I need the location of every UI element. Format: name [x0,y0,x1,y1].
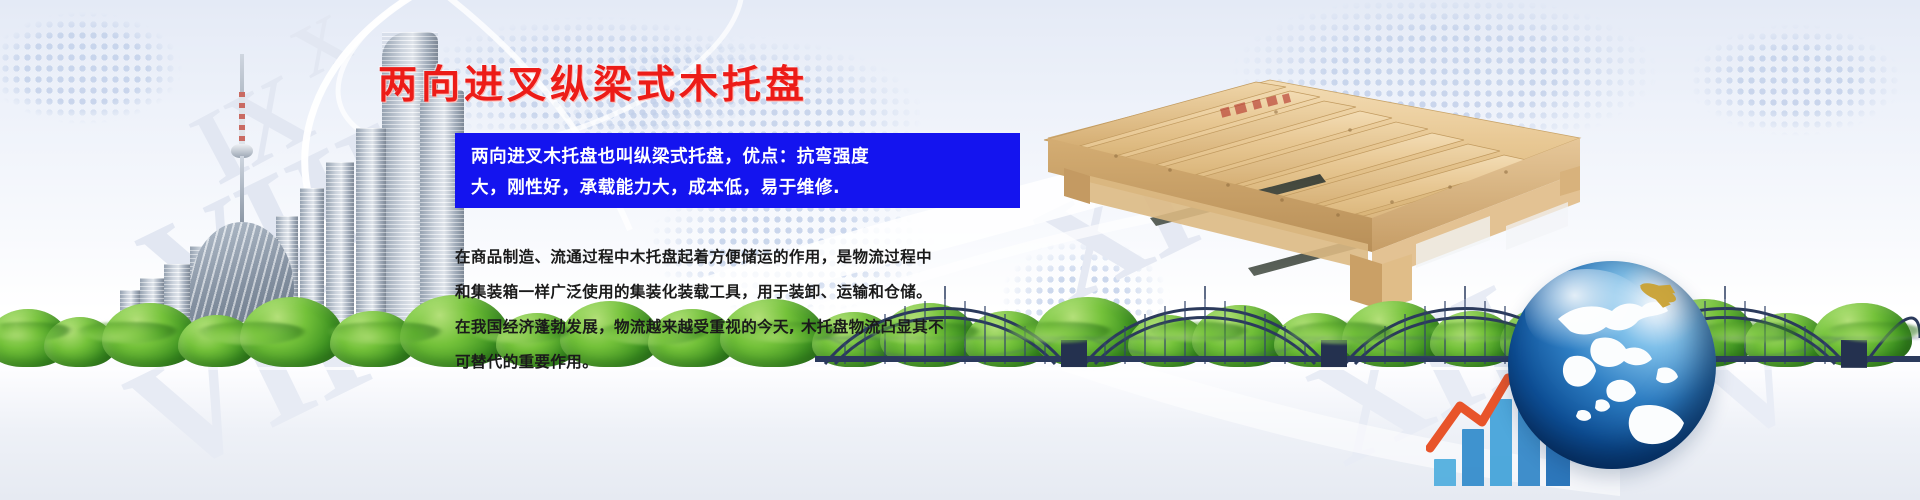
page-title: 两向进叉纵梁式木托盘 [378,54,898,110]
globe-and-chart-graphic [1430,245,1750,500]
body-copy: 在商品制造、流通过程中木托盘起着方便储运的作用，是物流过程中 和集装箱一样广泛使… [455,240,1075,380]
dotted-map-patch [1680,20,1910,140]
highlight-callout: 两向进叉木托盘也叫纵梁式托盘，优点：抗弯强度 大，刚性好，承载能力大，成本低，易… [455,133,1020,208]
body-line: 和集装箱一样广泛使用的集装化装载工具，用于装卸、运输和仓储。 [455,275,1075,310]
body-line: 在商品制造、流通过程中木托盘起着方便储运的作用，是物流过程中 [455,240,1075,275]
globe-highlight [1525,269,1650,356]
body-line: 可替代的重要作用。 [455,345,1075,380]
chart-bar [1434,459,1456,486]
highlight-line: 两向进叉木托盘也叫纵梁式托盘，优点：抗弯强度 [471,142,1006,173]
promo-banner: X IX VIII VII XI XII V [0,0,1920,500]
earth-globe-icon [1508,261,1716,469]
body-line: 在我国经济蓬勃发展，物流越来越受重视的今天, 木托盘物流凸显其不 [455,310,1075,345]
highlight-line: 大，刚性好，承载能力大，成本低，易于维修. [471,173,1006,204]
